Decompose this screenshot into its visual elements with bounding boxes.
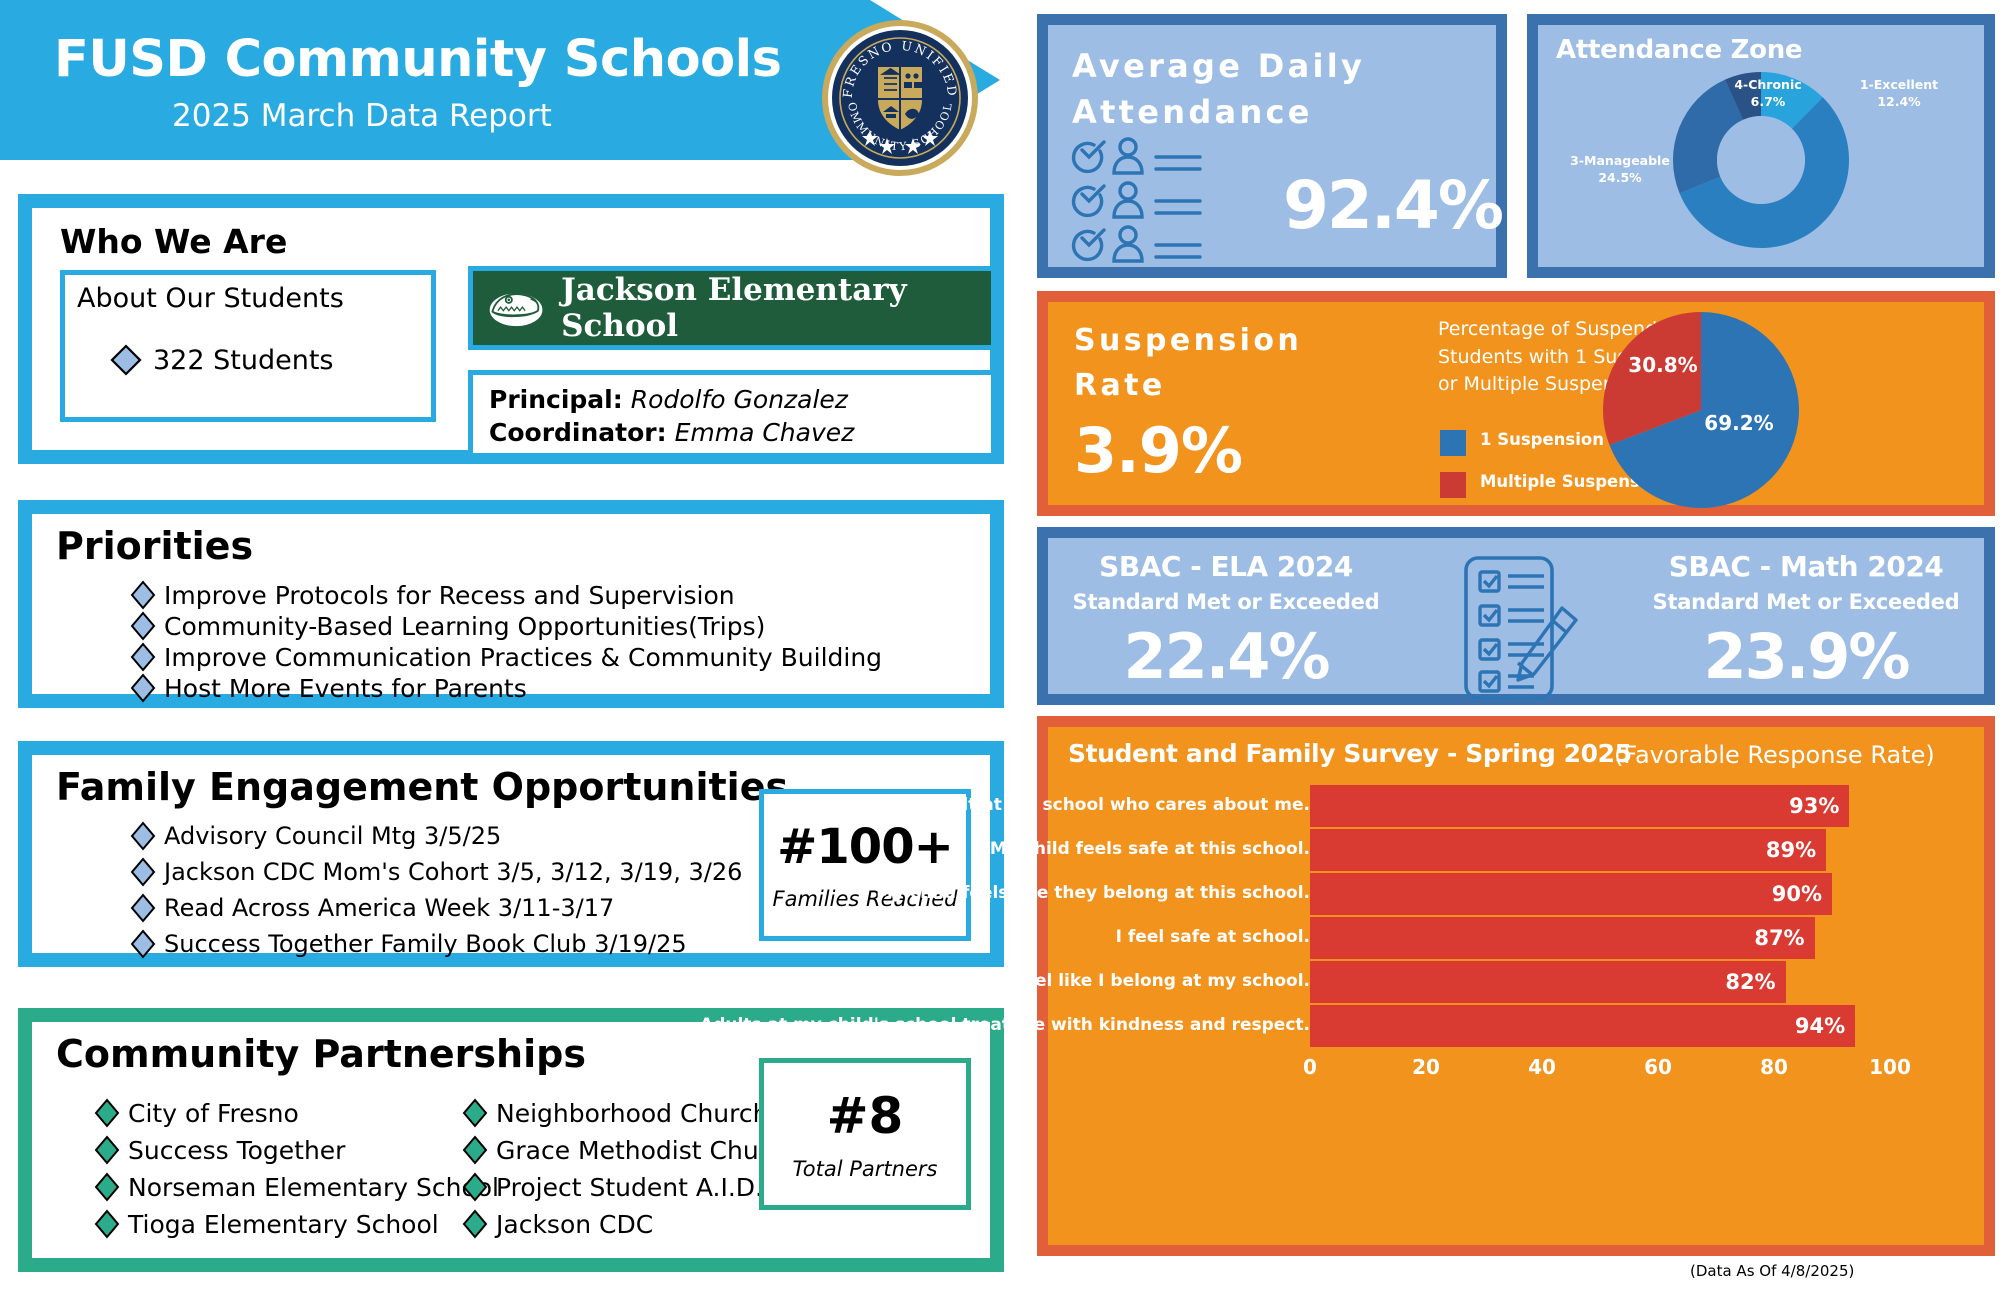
legend-swatch (1440, 430, 1466, 456)
average-daily-attendance-value: 92.4% (1283, 167, 1502, 244)
data-as-of-footnote: (Data As Of 4/8/2025) (1690, 1262, 1854, 1280)
partner-item: Grace Methodist Church (462, 1135, 798, 1165)
family-event-item-label: Jackson CDC Mom's Cohort 3/5, 3/12, 3/19… (164, 858, 742, 886)
page-subtitle: 2025 March Data Report (172, 98, 552, 134)
coordinator-name: Emma Chavez (675, 418, 855, 447)
about-our-students-label: About Our Students (77, 283, 344, 314)
family-event-item: Advisory Council Mtg 3/5/25 (130, 821, 742, 851)
x-axis-tick: 60 (1644, 1055, 1672, 1079)
priority-item: Host More Events for Parents (130, 673, 882, 703)
survey-bar-value: 90% (1772, 882, 1822, 906)
page-title: FUSD Community Schools (54, 30, 781, 89)
survey-bar: 90% (1310, 873, 1832, 915)
x-axis-tick: 100 (1869, 1055, 1911, 1079)
diamond-bullet-icon (94, 1172, 120, 1202)
x-axis-tick: 20 (1412, 1055, 1440, 1079)
donut-hole (1717, 116, 1805, 204)
zone-label-value: 6.7% (1751, 94, 1786, 109)
checked-person-list-icon (1068, 135, 1268, 265)
suspension-rate-title: Suspension Rate (1074, 318, 1364, 408)
partners-column-2: Neighborhood ChurchGrace Methodist Churc… (462, 1098, 798, 1246)
diamond-bullet-icon (130, 929, 156, 959)
priority-item: Community-Based Learning Opportunities(T… (130, 611, 882, 641)
survey-question-label: I feel like I belong at my school. (1004, 971, 1310, 991)
partner-item-label: Neighborhood Church (496, 1099, 768, 1128)
students-count-row: 322 Students (109, 343, 333, 377)
community-partnerships-panel: Community Partnerships City of FresnoSuc… (18, 1008, 1004, 1272)
survey-bar-row: Adults at my child's school treat me wit… (1048, 1005, 1984, 1047)
school-name-label: Jackson Elementary School (561, 272, 991, 344)
survey-bar-row: My child feels safe at this school.89% (1048, 829, 1984, 871)
survey-question-label: My child feels safe at this school. (990, 839, 1310, 859)
survey-title: Student and Family Survey - Spring 2025 (1068, 739, 1632, 768)
x-axis-tick: 40 (1528, 1055, 1556, 1079)
sbac-ela-title: SBAC - ELA 2024 (1056, 550, 1396, 583)
attendance-zone-panel: Attendance Zone 1-Excellent12.4%2-Satisf… (1527, 14, 1995, 278)
sbac-ela-subtitle: Standard Met or Exceeded (1056, 590, 1396, 614)
gator-mascot-icon (487, 284, 545, 332)
partner-item-label: Success Together (128, 1136, 345, 1165)
survey-bar: 82% (1310, 961, 1786, 1003)
survey-question-label: There is an adult at my school who cares… (814, 795, 1310, 815)
suspension-rate-value: 3.9% (1074, 414, 1242, 487)
zone-label-name: 4-Chronic (1734, 77, 1801, 92)
sbac-math-subtitle: Standard Met or Exceeded (1636, 590, 1976, 614)
diamond-bullet-icon (130, 857, 156, 887)
zone-label-value: 12.4% (1877, 94, 1920, 109)
sbac-panel: SBAC - ELA 2024 Standard Met or Exceeded… (1037, 527, 1995, 705)
diamond-bullet-icon (130, 642, 156, 672)
priority-item: Improve Protocols for Recess and Supervi… (130, 580, 882, 610)
legend-label: 1 Suspension (1480, 430, 1604, 451)
community-partnerships-title: Community Partnerships (56, 1032, 586, 1076)
partner-item: Norseman Elementary School (94, 1172, 499, 1202)
family-engagement-panel: Family Engagement Opportunities Advisory… (18, 741, 1004, 967)
sbac-math-block: SBAC - Math 2024 Standard Met or Exceede… (1636, 550, 1976, 693)
priorities-list: Improve Protocols for Recess and Supervi… (130, 580, 882, 704)
total-partners-value: #8 (827, 1087, 904, 1145)
survey-bar: 94% (1310, 1005, 1855, 1047)
survey-bar: 89% (1310, 829, 1826, 871)
checklist-pencil-icon (1444, 554, 1594, 702)
fresno-unified-seal-logo: FRESNO UNIFIED COMMUNITY SCHOOLS (820, 18, 980, 178)
survey-subtitle: (Favorable Response Rate) (1614, 741, 1935, 769)
sbac-ela-value: 22.4% (1056, 620, 1396, 693)
survey-bar-value: 87% (1754, 926, 1804, 950)
total-partners-stat-box: #8 Total Partners (759, 1058, 971, 1210)
survey-x-axis: 020406080100 (1310, 1055, 1890, 1085)
blue-diamond-bullet-icon (109, 343, 143, 377)
survey-question-label: My child feels like they belong at this … (876, 883, 1310, 903)
partner-item: Jackson CDC (462, 1209, 798, 1239)
sbac-math-title: SBAC - Math 2024 (1636, 550, 1976, 583)
coordinator-row: Coordinator: Emma Chavez (489, 416, 991, 449)
zone-label-name: 3-Manageable (1570, 153, 1670, 168)
diamond-bullet-icon (130, 580, 156, 610)
family-engagement-list: Advisory Council Mtg 3/5/25Jackson CDC M… (130, 821, 742, 965)
priorities-panel: Priorities Improve Protocols for Recess … (18, 500, 1004, 708)
diamond-bullet-icon (94, 1098, 120, 1128)
partner-item-label: Grace Methodist Church (496, 1136, 798, 1165)
partner-item: Neighborhood Church (462, 1098, 798, 1128)
zone-label-value: 24.5% (1598, 170, 1641, 185)
partner-item: Project Student A.I.D.E (462, 1172, 798, 1202)
average-daily-attendance-panel: Average Daily Attendance (1037, 14, 1507, 278)
partner-item-label: Jackson CDC (496, 1210, 653, 1239)
priority-item-label: Community-Based Learning Opportunities(T… (164, 612, 765, 641)
family-engagement-title: Family Engagement Opportunities (56, 765, 788, 809)
survey-bar-row: I feel safe at school.87% (1048, 917, 1984, 959)
family-event-item: Jackson CDC Mom's Cohort 3/5, 3/12, 3/19… (130, 857, 742, 887)
diamond-bullet-icon (130, 893, 156, 923)
families-reached-value: #100+ (777, 819, 953, 875)
family-event-item: Read Across America Week 3/11-3/17 (130, 893, 742, 923)
survey-bar: 87% (1310, 917, 1815, 959)
who-we-are-title: Who We Are (60, 222, 287, 261)
priorities-title: Priorities (56, 524, 253, 568)
staff-info-box: Principal: Rodolfo Gonzalez Coordinator:… (468, 370, 996, 458)
partners-column-1: City of FresnoSuccess TogetherNorseman E… (94, 1098, 499, 1246)
partner-item: Tioga Elementary School (94, 1209, 499, 1239)
partner-item-label: Norseman Elementary School (128, 1173, 499, 1202)
survey-bar-row: There is an adult at my school who cares… (1048, 785, 1984, 827)
family-event-item-label: Success Together Family Book Club 3/19/2… (164, 930, 687, 958)
survey-question-label: Adults at my child's school treat me wit… (700, 1015, 1310, 1035)
diamond-bullet-icon (130, 821, 156, 851)
diamond-bullet-icon (94, 1135, 120, 1165)
x-axis-tick: 80 (1760, 1055, 1788, 1079)
zone-label-3-manageable: 3-Manageable24.5% (1550, 153, 1690, 187)
diamond-bullet-icon (130, 673, 156, 703)
family-event-item: Success Together Family Book Club 3/19/2… (130, 929, 742, 959)
school-name-banner: Jackson Elementary School (468, 266, 996, 350)
partner-item: Success Together (94, 1135, 499, 1165)
survey-question-label: I feel safe at school. (1116, 927, 1310, 947)
coordinator-label: Coordinator: (489, 418, 667, 447)
diamond-bullet-icon (462, 1172, 488, 1202)
partner-item-label: Tioga Elementary School (128, 1210, 439, 1239)
survey-bar-value: 93% (1789, 794, 1839, 818)
survey-bar-row: My child feels like they belong at this … (1048, 873, 1984, 915)
zone-label-name: 1-Excellent (1860, 77, 1938, 92)
sbac-ela-block: SBAC - ELA 2024 Standard Met or Exceeded… (1056, 550, 1396, 693)
diamond-bullet-icon (462, 1135, 488, 1165)
who-we-are-panel: Who We Are About Our Students 322 Studen… (18, 194, 1004, 464)
priority-item: Improve Communication Practices & Commun… (130, 642, 882, 672)
pie-value-label: 69.2% (1704, 411, 1773, 435)
x-axis-tick: 0 (1303, 1055, 1317, 1079)
principal-name: Rodolfo Gonzalez (631, 385, 848, 414)
survey-bar-chart: There is an adult at my school who cares… (1048, 785, 1984, 1085)
priority-item-label: Host More Events for Parents (164, 674, 527, 703)
zone-label-4-chronic: 4-Chronic6.7% (1708, 77, 1828, 111)
student-family-survey-panel: Student and Family Survey - Spring 2025 … (1037, 716, 1995, 1256)
students-count-value: 322 Students (153, 345, 333, 376)
partner-item-label: Project Student A.I.D.E (496, 1173, 779, 1202)
survey-bar-value: 94% (1795, 1014, 1845, 1038)
average-daily-attendance-title: Average Daily Attendance (1072, 43, 1372, 136)
suspension-rate-panel: Suspension Rate 3.9% Percentage of Suspe… (1037, 291, 1995, 516)
survey-bar-row: I feel like I belong at my school.82% (1048, 961, 1984, 1003)
suspension-pie-chart: 30.8%69.2% (1601, 310, 1801, 510)
legend-swatch (1440, 472, 1466, 498)
total-partners-caption: Total Partners (793, 1157, 938, 1181)
survey-bar-value: 89% (1766, 838, 1816, 862)
about-our-students-box: About Our Students 322 Students (60, 270, 436, 422)
zone-label-1-excellent: 1-Excellent12.4% (1834, 77, 1964, 111)
priority-item-label: Improve Protocols for Recess and Supervi… (164, 581, 735, 610)
diamond-bullet-icon (462, 1209, 488, 1239)
principal-row: Principal: Rodolfo Gonzalez (489, 383, 991, 416)
diamond-bullet-icon (462, 1098, 488, 1128)
family-event-item-label: Read Across America Week 3/11-3/17 (164, 894, 614, 922)
sbac-math-value: 23.9% (1636, 620, 1976, 693)
survey-bar: 93% (1310, 785, 1849, 827)
diamond-bullet-icon (94, 1209, 120, 1239)
partner-item-label: City of Fresno (128, 1099, 299, 1128)
infographic-page: FUSD Community Schools 2025 March Data R… (0, 0, 2000, 1294)
family-event-item-label: Advisory Council Mtg 3/5/25 (164, 822, 501, 850)
partner-item: City of Fresno (94, 1098, 499, 1128)
priority-item-label: Improve Communication Practices & Commun… (164, 643, 882, 672)
pie-value-label: 30.8% (1628, 353, 1697, 377)
principal-label: Principal: (489, 385, 623, 414)
survey-bar-value: 82% (1725, 970, 1775, 994)
diamond-bullet-icon (130, 611, 156, 641)
